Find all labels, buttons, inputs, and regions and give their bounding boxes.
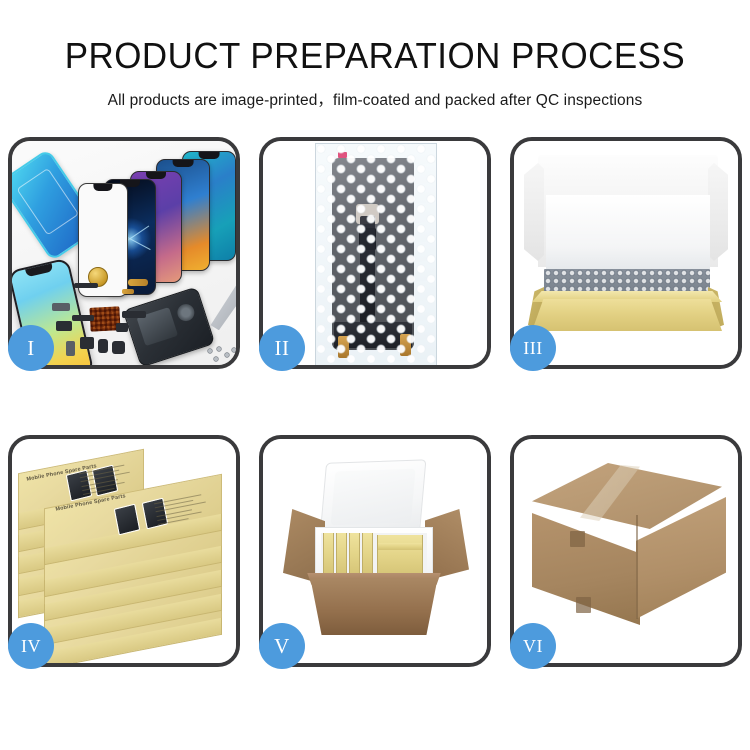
spare-part-battery-icon: [112, 341, 125, 354]
spare-part-connector-icon: [56, 321, 72, 331]
spare-part-gold-tab-icon: [122, 289, 134, 294]
carton-corner-seam-icon: [636, 515, 638, 619]
carton-flap-tab-top-icon: [570, 531, 585, 547]
process-step-4: Mobile Phone Spare Parts: [8, 435, 240, 667]
process-step-5: V: [259, 435, 491, 667]
carton-flap-tab-bottom-icon: [576, 597, 591, 613]
process-step-1: I: [8, 137, 240, 369]
stacked-box-front-1: Mobile Phone Spare Parts: [44, 491, 222, 553]
bubble-texture-over: [316, 144, 436, 365]
process-step-grid: I: [8, 137, 742, 682]
step-badge-4: IV: [8, 623, 54, 669]
box-front-panel-icon: [532, 299, 722, 331]
box-lid-left-flap-icon: [524, 163, 544, 261]
spare-part-sim-tray-icon: [66, 341, 75, 356]
step-badge-5: V: [259, 623, 305, 669]
phone-backplate-icon: [123, 286, 216, 365]
step-badge-2: II: [259, 325, 305, 371]
spare-part-gold-flex-icon: [128, 279, 148, 286]
step-badge-6: VI: [510, 623, 556, 669]
carton-body-icon: [305, 579, 443, 635]
bubble-wrap-bag: [315, 143, 437, 365]
spare-part-button-icon: [116, 323, 128, 332]
spare-part-speaker-icon: [98, 339, 108, 353]
spare-part-ribbon-icon: [122, 311, 146, 318]
foam-lid-icon: [320, 459, 427, 536]
step-badge-1: I: [8, 325, 54, 371]
header: PRODUCT PREPARATION PROCESS All products…: [0, 0, 750, 110]
spare-part-strip-icon: [74, 283, 98, 288]
process-step-6: VI: [510, 435, 742, 667]
spare-part-bracket-icon: [52, 303, 70, 311]
screws-group-icon: [208, 347, 236, 363]
step-badge-3: III: [510, 325, 556, 371]
spare-part-camera-icon: [80, 337, 94, 349]
process-step-2: II: [259, 137, 491, 369]
plastic-bag-icon: [315, 143, 437, 365]
tweezers-icon: [205, 277, 236, 333]
process-step-3: III: [510, 137, 742, 369]
box-stack: Mobile Phone Spare Parts: [16, 453, 232, 653]
page-subtitle: All products are image-printed，film-coat…: [0, 88, 750, 110]
product-preparation-infographic: PRODUCT PREPARATION PROCESS All products…: [0, 0, 750, 750]
box-lid-right-flap-icon: [708, 163, 728, 261]
yellow-boxes-group: [321, 533, 427, 577]
phone-lineup: [64, 149, 236, 281]
spare-part-flex-cable-icon: [72, 315, 94, 321]
foam-sheet-icon: [546, 195, 710, 269]
page-title: PRODUCT PREPARATION PROCESS: [11, 38, 739, 74]
